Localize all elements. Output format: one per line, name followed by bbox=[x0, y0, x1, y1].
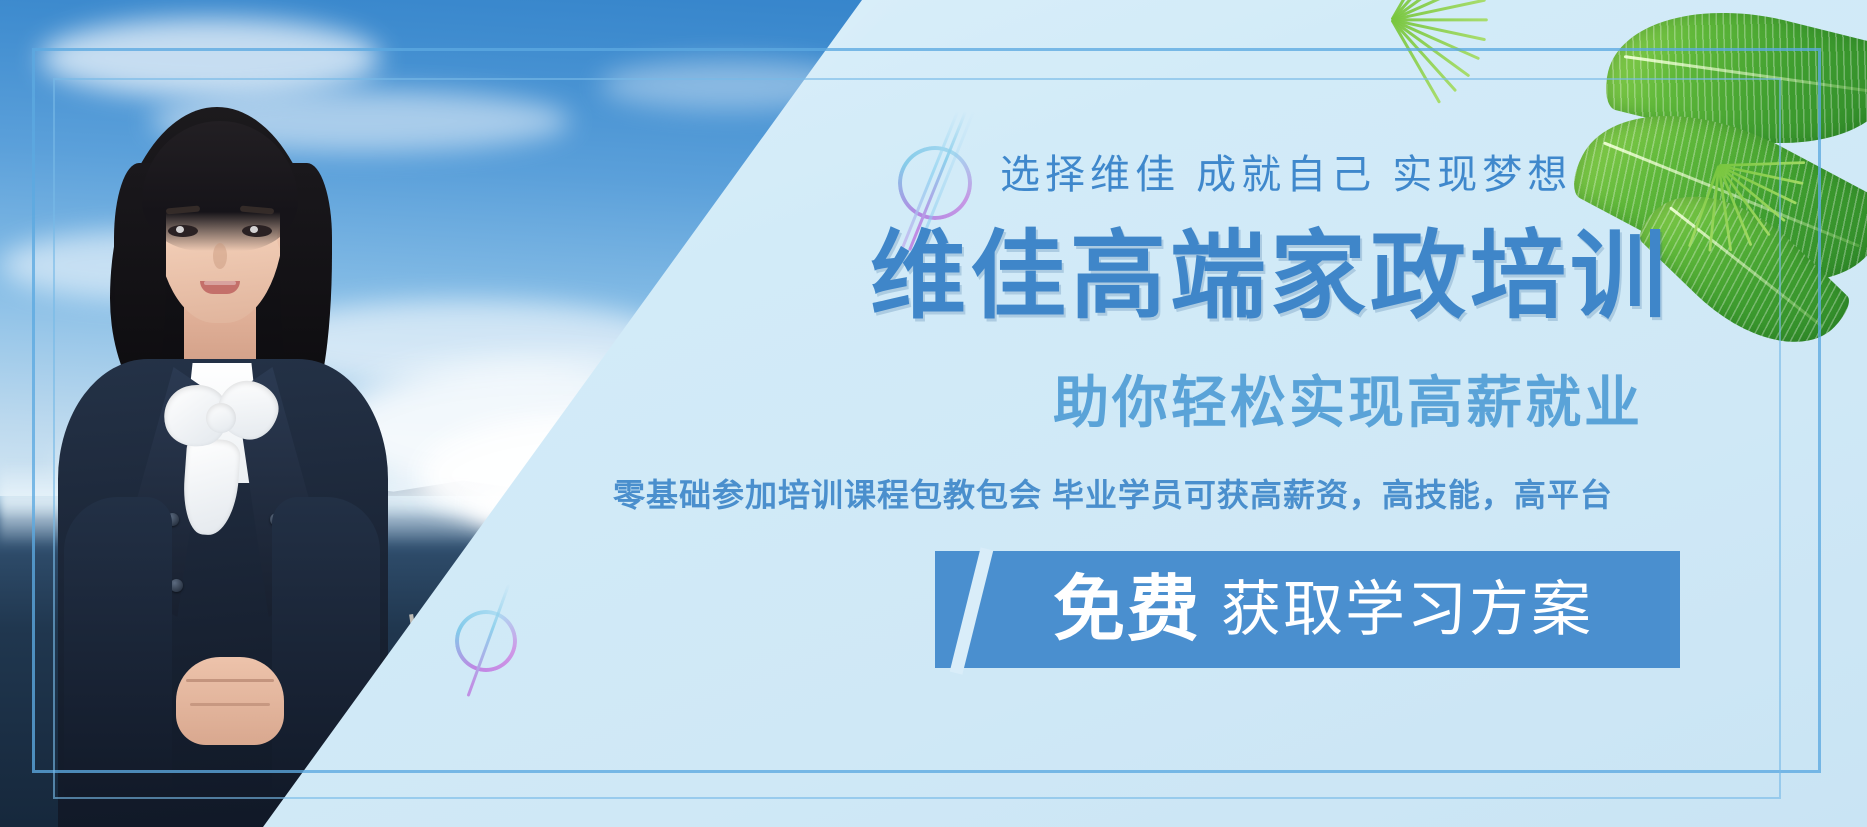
promo-banner: 选择维佳 成就自己 实现梦想 维佳高端家政培训 助你轻松实现高薪就业 零基础参加… bbox=[0, 0, 1867, 827]
slash-accent-icon bbox=[950, 547, 994, 674]
description-text: 零基础参加培训课程包教包会 毕业学员可获高薪资，高技能，高平台 bbox=[613, 470, 1613, 516]
cta-label: 获取学习方案 bbox=[1221, 580, 1593, 640]
get-study-plan-button[interactable]: 免费 获取学习方案 bbox=[935, 551, 1680, 668]
page-title: 维佳高端家政培训 bbox=[870, 198, 1670, 337]
tagline: 选择维佳 成就自己 实现梦想 bbox=[1000, 142, 1572, 200]
cta-highlight-label: 免费 bbox=[1053, 574, 1201, 646]
banner-content: 选择维佳 成就自己 实现梦想 维佳高端家政培训 助你轻松实现高薪就业 零基础参加… bbox=[0, 0, 1867, 827]
subheading: 助你轻松实现高薪就业 bbox=[1053, 358, 1643, 439]
